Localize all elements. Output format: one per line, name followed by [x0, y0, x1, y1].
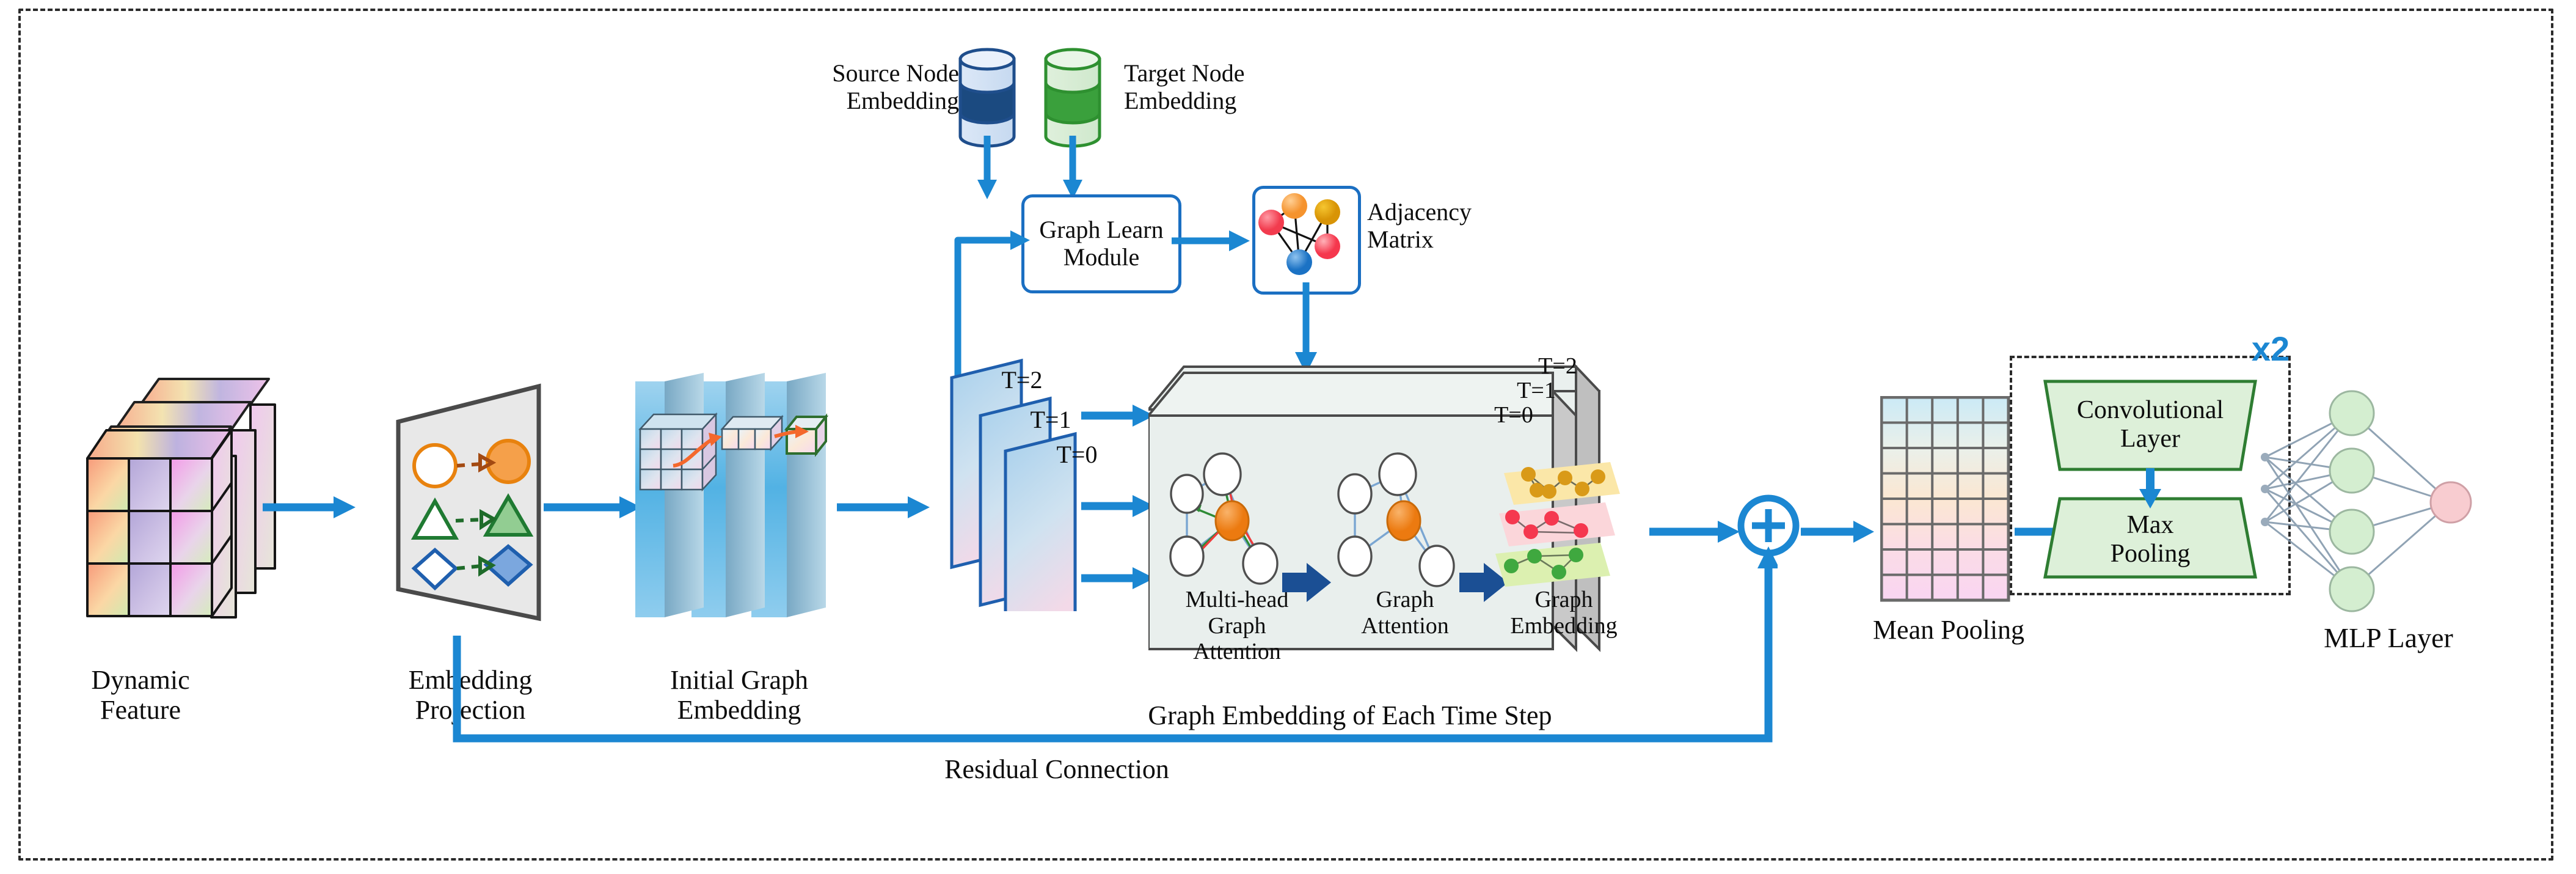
source-node-embedding-label: Source Node Embedding [812, 60, 959, 115]
adjacency-graph-icon [1255, 189, 1352, 285]
mlp-network [2260, 379, 2517, 623]
arrows-embeddings-to-module [971, 136, 1130, 203]
diagram-canvas: Dynamic Feature Embedding Projection [0, 0, 2576, 874]
residual-connection-path [452, 489, 1778, 758]
box-label-t2: T=2 [1521, 353, 1594, 380]
mean-pooling-grid [1880, 396, 2015, 604]
box-label-t1: T=1 [1500, 378, 1573, 404]
target-node-embedding-label: Target Node Embedding [1124, 60, 1283, 115]
box-label-t0: T=0 [1477, 402, 1550, 428]
repeat-x2-badge: x2 [2243, 330, 2298, 369]
max-pooling-label: Max Pooling [2040, 511, 2260, 568]
mean-pooling-label: Mean Pooling [1839, 615, 2059, 645]
arrow-module-to-adjacency [1172, 225, 1255, 257]
shape-circle-hollow [414, 445, 456, 487]
mlp-layer-label: MLP Layer [2260, 622, 2517, 654]
graph-learn-module-box[interactable]: Graph Learn Module [1021, 194, 1181, 293]
mlp-output-node [2431, 482, 2471, 523]
adjacency-matrix-label: Adjacency Matrix [1367, 199, 1526, 254]
graph-learn-module-label: Graph Learn Module [1039, 216, 1163, 271]
slice-label-t2: T=2 [988, 367, 1056, 394]
residual-connection-label: Residual Connection [825, 754, 1289, 784]
arrow-sum-to-mean-pooling [1801, 516, 1880, 547]
dynamic-feature-label: Dynamic Feature [37, 665, 244, 725]
arrow-feature-to-projection [263, 492, 360, 523]
slice-label-t1: T=1 [1017, 406, 1084, 434]
adjacency-matrix-box[interactable] [1252, 186, 1361, 295]
convolutional-layer-label: Convolutional Layer [2040, 396, 2260, 454]
